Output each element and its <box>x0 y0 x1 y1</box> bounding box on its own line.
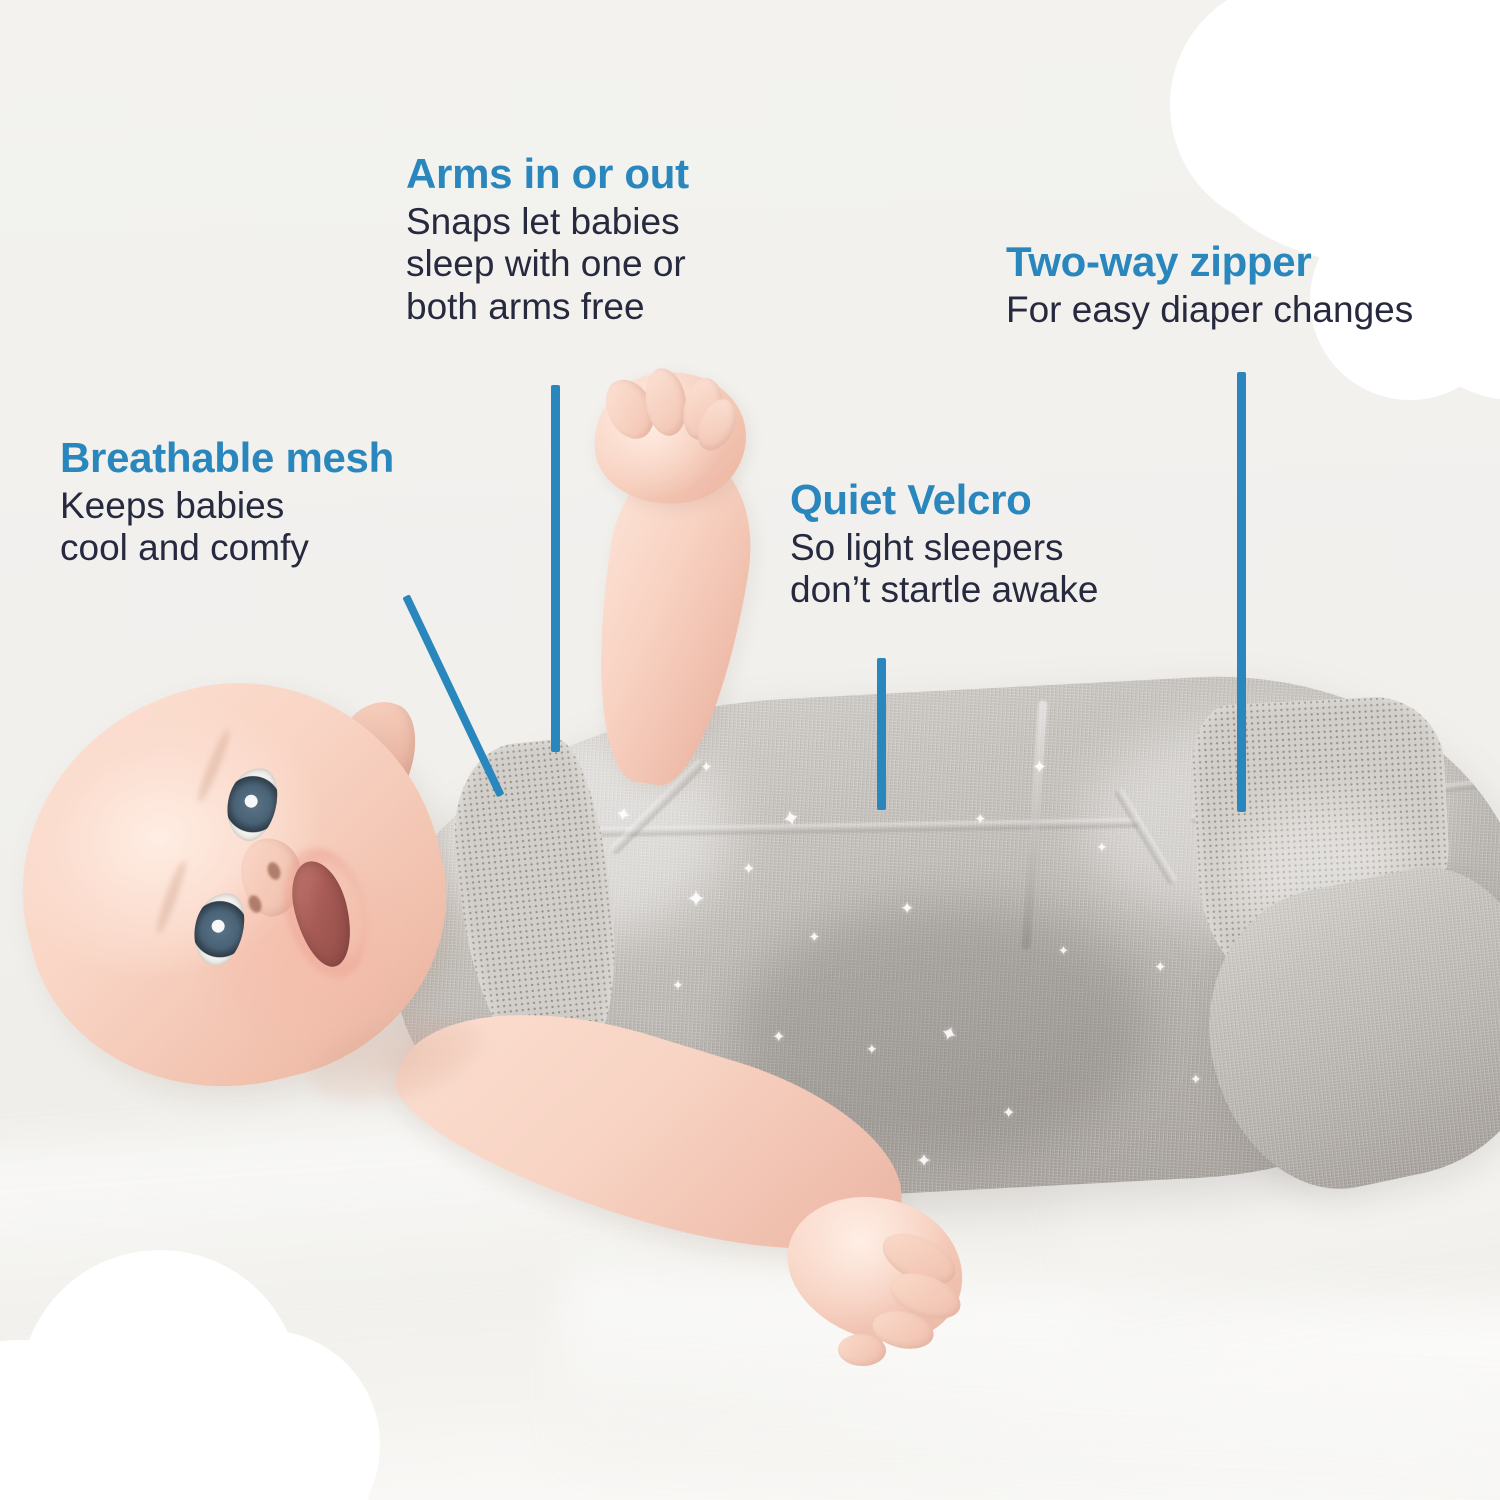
callout-breathable-mesh: Breathable mesh Keeps babies cool and co… <box>60 436 394 570</box>
callout-heading: Two-way zipper <box>1006 240 1413 285</box>
callout-body: So light sleepers don’t startle awake <box>790 527 1099 613</box>
callout-body: Keeps babies cool and comfy <box>60 485 394 571</box>
callout-body: For easy diaper changes <box>1006 289 1413 332</box>
leader-line-two-way-zipper <box>1237 372 1246 812</box>
callout-quiet-velcro: Quiet Velcro So light sleepers don’t sta… <box>790 478 1099 612</box>
leader-line-arms-in-or-out <box>551 385 560 752</box>
leader-line-quiet-velcro <box>877 658 886 810</box>
cloud-bottom-left-icon <box>0 1250 360 1500</box>
callout-body: Snaps let babies sleep with one or both … <box>406 201 689 330</box>
callout-arms-in-or-out: Arms in or out Snaps let babies sleep wi… <box>406 152 689 329</box>
callout-heading: Arms in or out <box>406 152 689 197</box>
infographic-root: ✦ ✦ ✦ ✦ ✦ ✦ ✦ ✦ ✦ ✦ ✦ ✦ ✦ ✦ ✦ ✦ ✦ ✦ ✦ ✦ … <box>0 0 1500 1500</box>
callout-two-way-zipper: Two-way zipper For easy diaper changes <box>1006 240 1413 331</box>
callout-heading: Quiet Velcro <box>790 478 1099 523</box>
callout-heading: Breathable mesh <box>60 436 394 481</box>
